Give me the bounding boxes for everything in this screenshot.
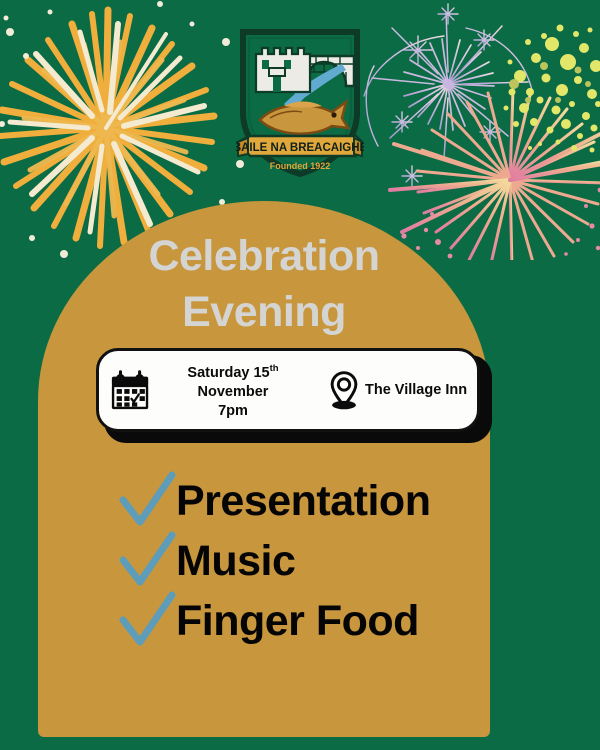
date-rest: November — [198, 384, 269, 400]
yellow-dot-cluster-firework — [504, 25, 600, 153]
castle-tower-icon — [256, 48, 310, 92]
crest-banner-text: BAILE NA BREACAIGHE — [236, 142, 364, 154]
crest-founded-text: Founded 1922 — [270, 161, 331, 171]
event-info-card: Saturday 15th November 7pm The Village I… — [96, 348, 488, 440]
crest-banner: BAILE NA BREACAIGHE — [236, 136, 364, 156]
event-time: 7pm — [218, 403, 248, 419]
list-item-label: Presentation — [176, 470, 430, 532]
list-item: Presentation — [118, 470, 498, 532]
page-title: Celebration Evening — [38, 228, 490, 340]
list-item: Finger Food — [118, 590, 498, 652]
yellow-dot-cluster-olive-dots — [509, 62, 591, 103]
date-ordinal: th — [270, 363, 279, 374]
check-mark-icon — [118, 530, 176, 592]
village-crest: BAILE NA BREACAIGHE Founded 1922 — [236, 26, 364, 178]
map-pin-icon — [323, 368, 365, 412]
calendar-check-icon — [109, 368, 153, 412]
list-item-label: Music — [176, 530, 295, 592]
lavender-starburst-firework — [364, 4, 532, 186]
title-line-2: Evening — [38, 284, 490, 340]
date-time-segment: Saturday 15th November 7pm — [99, 359, 313, 421]
title-line-1: Celebration — [148, 232, 379, 280]
location-text: The Village Inn — [365, 382, 467, 398]
date-main: Saturday 15 — [187, 365, 269, 381]
check-mark-icon — [118, 470, 176, 532]
list-item: Music — [118, 530, 498, 592]
list-item-label: Finger Food — [176, 590, 419, 652]
location-segment: The Village Inn — [313, 368, 467, 412]
check-mark-icon — [118, 590, 176, 652]
event-checklist: Presentation Music Finger Food — [118, 470, 498, 654]
poster-canvas: BAILE NA BREACAIGHE Founded 1922 Celebra… — [0, 0, 600, 750]
date-time-text: Saturday 15th November 7pm — [153, 359, 313, 421]
